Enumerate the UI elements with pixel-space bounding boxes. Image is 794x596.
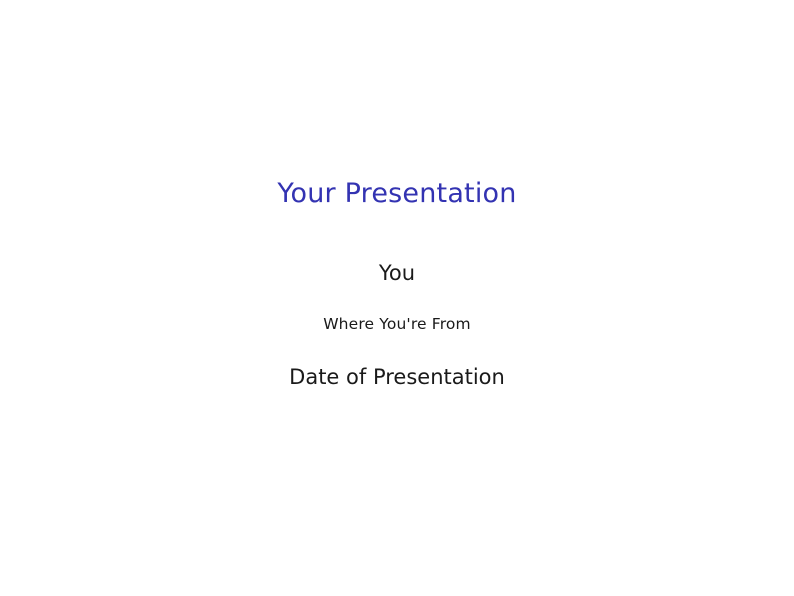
institute-name: Where You're From (0, 316, 794, 334)
presentation-date: Date of Presentation (0, 365, 794, 389)
title-slide: Your Presentation You Where You're From … (0, 0, 794, 596)
page-title: Your Presentation (0, 178, 794, 209)
author-name: You (0, 261, 794, 285)
